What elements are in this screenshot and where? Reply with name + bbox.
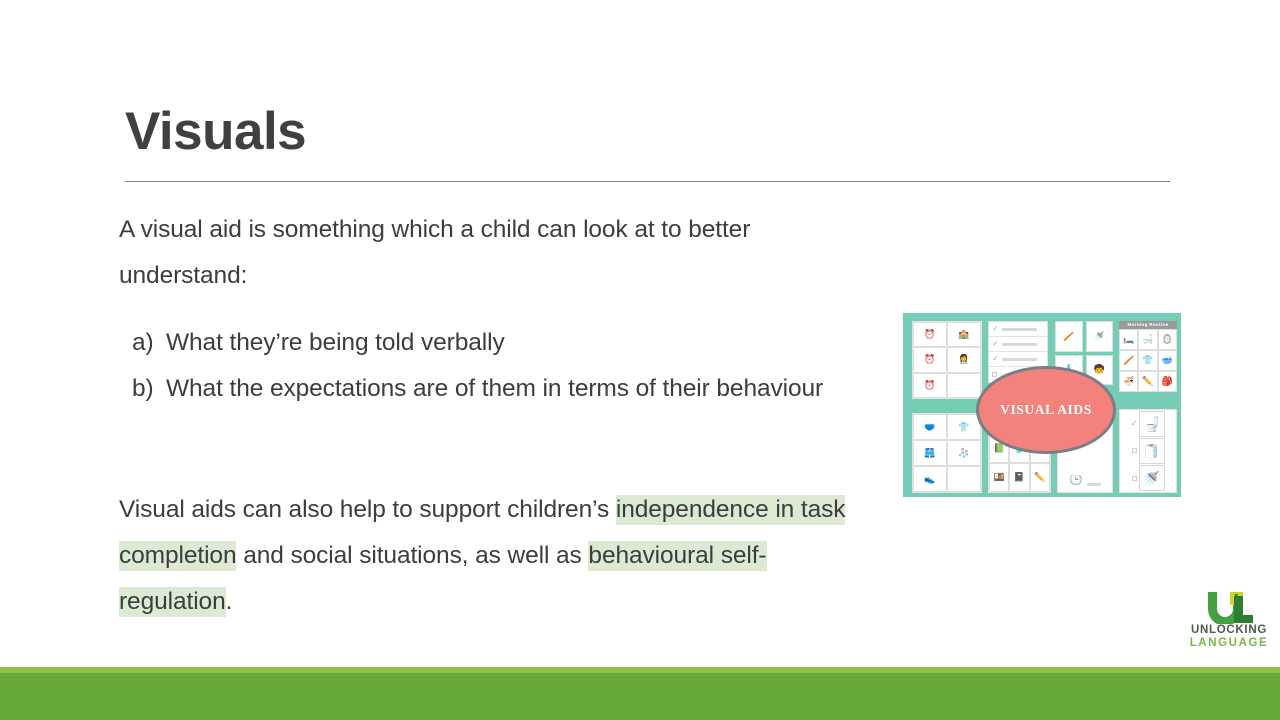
panel-bathroom-sequence: ✓ 🚽 🧻 🚿 xyxy=(1119,409,1177,493)
logo-mark-icon xyxy=(1186,590,1272,624)
list-item: b) What the expectations are of them in … xyxy=(119,366,879,412)
schedule-cell: 🏫 xyxy=(947,322,981,347)
page-title: Visuals xyxy=(125,103,306,160)
bathroom-cell: 🚿 xyxy=(1139,465,1165,491)
schedule-cell: ⏰ xyxy=(913,322,947,347)
routine-cell: 🛏️ xyxy=(1119,329,1138,350)
lettered-list: a) What they’re being told verbally b) W… xyxy=(119,320,879,412)
closing-text-part-2: and social situations, as well as xyxy=(236,542,588,569)
unlocking-language-logo: UNLOCKING LANGUAGE xyxy=(1186,590,1272,652)
checkbox-icon xyxy=(1132,476,1137,481)
checklist-row: ✓ xyxy=(989,322,1047,337)
intro-paragraph: A visual aid is something which a child … xyxy=(119,207,879,299)
footer-bar xyxy=(0,673,1280,720)
logo-wordmark-unlocking: UNLOCKING xyxy=(1186,624,1272,637)
checklist-row: ✓ xyxy=(989,337,1047,352)
panel-visual-schedule: ⏰ 🏫 ⏰ 👩‍⚕️ ⏰ 🛽 xyxy=(912,321,982,399)
routine-cell: 👕 xyxy=(1138,350,1157,371)
closing-paragraph: Visual aids can also help to support chi… xyxy=(119,487,879,625)
check-icon: ✓ xyxy=(992,340,999,348)
clothing-cell: 👕 xyxy=(947,414,981,440)
check-icon: ✓ xyxy=(992,325,999,333)
list-item-marker: b) xyxy=(119,366,166,412)
routine-cell: ✏️ xyxy=(1138,371,1157,392)
checklist-row-label xyxy=(1002,343,1037,346)
bathroom-row: 🧻 xyxy=(1120,437,1176,464)
schedule-cell: ⏰ xyxy=(913,373,947,398)
morning-routine-title: Morning Routine xyxy=(1119,321,1177,329)
schedule-cell: 👩‍⚕️ xyxy=(947,347,981,372)
pack-bag-cell: 🍱 xyxy=(989,463,1009,492)
clothing-cell: 👟 xyxy=(913,466,947,492)
routine-cell: 🪞 xyxy=(1158,329,1177,350)
routine-cell: 🪥 xyxy=(1119,350,1138,371)
bathroom-row: ✓ 🚽 xyxy=(1120,410,1176,437)
hygiene-cell: 🚿 xyxy=(1086,321,1114,352)
closing-text-part-1: Visual aids can also help to support chi… xyxy=(119,496,616,523)
list-item: a) What they’re being told verbally xyxy=(119,320,879,366)
checklist-row-label xyxy=(1002,328,1037,331)
routine-cell: 🎒 xyxy=(1158,371,1177,392)
clothing-cell: 🧦 xyxy=(947,440,981,466)
bathroom-cell: 🧻 xyxy=(1139,438,1165,464)
closing-text-part-3: . xyxy=(226,588,233,615)
schedule-cell: 🛽 xyxy=(947,373,981,398)
panel-getting-dressed: 🩲 👕 🩳 🧦 👟 xyxy=(912,413,982,493)
slide-canvas: Visuals A visual aid is something which … xyxy=(0,0,1280,720)
clock-icon: 🕒 xyxy=(1069,475,1083,486)
clothing-cell: 🩲 xyxy=(913,414,947,440)
checkbox-icon xyxy=(992,372,997,377)
list-item-label: What the expectations are of them in ter… xyxy=(166,366,879,412)
bathroom-cell: 🚽 xyxy=(1139,411,1165,437)
visual-aids-image: ⏰ 🏫 ⏰ 👩‍⚕️ ⏰ 🛽 ✓ ✓ ✓ xyxy=(901,311,1183,499)
checkbox-icon xyxy=(1132,448,1137,453)
visual-aids-badge: VISUAL AIDS xyxy=(976,366,1116,454)
title-divider xyxy=(125,181,1170,182)
list-item-label: What they’re being told verbally xyxy=(166,320,879,366)
clothing-cell: 🩳 xyxy=(913,440,947,466)
panel-morning-routine: Morning Routine 🛏️ 🛁 🪞 🪥 👕 🥣 🍜 ✏️ 🎒 xyxy=(1119,321,1177,399)
bathroom-row: 🚿 xyxy=(1120,465,1176,492)
routine-cell: 🛁 xyxy=(1138,329,1157,350)
checklist-row: ✓ xyxy=(989,352,1047,367)
pack-bag-cell: 📓 xyxy=(1009,463,1029,492)
checklist-row-label xyxy=(1002,358,1037,361)
routine-cell: 🥣 xyxy=(1158,350,1177,371)
schedule-cell: ⏰ xyxy=(913,347,947,372)
hygiene-cell: 🪥 xyxy=(1055,321,1083,352)
check-icon: ✓ xyxy=(992,355,999,363)
logo-wordmark-language: LANGUAGE xyxy=(1186,637,1272,650)
check-icon: ✓ xyxy=(1131,420,1138,428)
pack-bag-cell: ✏️ xyxy=(1030,463,1050,492)
clothing-cell xyxy=(947,466,981,492)
routine-cell: 🍜 xyxy=(1119,371,1138,392)
visual-aids-badge-label: VISUAL AIDS xyxy=(1000,402,1092,418)
clock-card-label xyxy=(1087,483,1101,486)
list-item-marker: a) xyxy=(119,320,166,366)
